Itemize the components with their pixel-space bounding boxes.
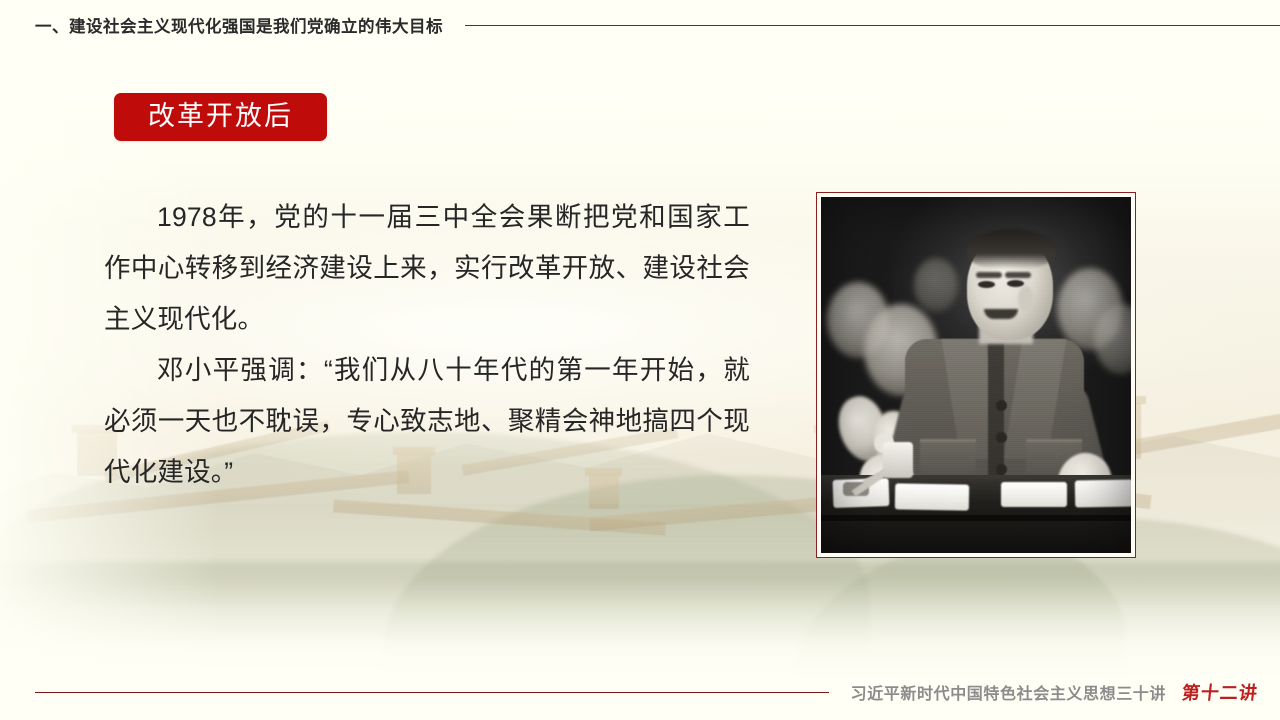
section-chip: 改革开放后 (114, 93, 327, 141)
slide-footer: 习近平新时代中国特色社会主义思想三十讲 第十二讲 (0, 664, 1280, 720)
section-chip-label: 改革开放后 (148, 103, 293, 132)
body-paragraph-1: 1978年，党的十一届三中全会果断把党和国家工作中心转移到经济建设上来，实行改革… (104, 192, 750, 345)
slide: 一、建设社会主义现代化强国是我们党确立的伟大目标 改革开放后 1978年，党的十… (0, 0, 1280, 720)
historical-photo (821, 197, 1131, 553)
footer-lecture-badge: 第十二讲 (1181, 679, 1260, 705)
background-wall-segment (333, 500, 666, 536)
body-copy: 1978年，党的十一届三中全会果断把党和国家工作中心转移到经济建设上来，实行改革… (104, 192, 750, 498)
footer-series-title: 习近平新时代中国特色社会主义思想三十讲 (851, 680, 1166, 704)
photo-frame (816, 192, 1136, 558)
background-trees (0, 562, 1280, 677)
slide-header: 一、建设社会主义现代化强国是我们党确立的伟大目标 (0, 0, 1280, 50)
photo-vignette (821, 197, 1131, 553)
footer-divider-line (35, 692, 829, 693)
header-divider-line (465, 25, 1280, 26)
page-title: 一、建设社会主义现代化强国是我们党确立的伟大目标 (35, 13, 443, 37)
body-paragraph-2: 邓小平强调：“我们从八十年代的第一年开始，就必须一天也不耽误，专心致志地、聚精会… (104, 345, 750, 498)
